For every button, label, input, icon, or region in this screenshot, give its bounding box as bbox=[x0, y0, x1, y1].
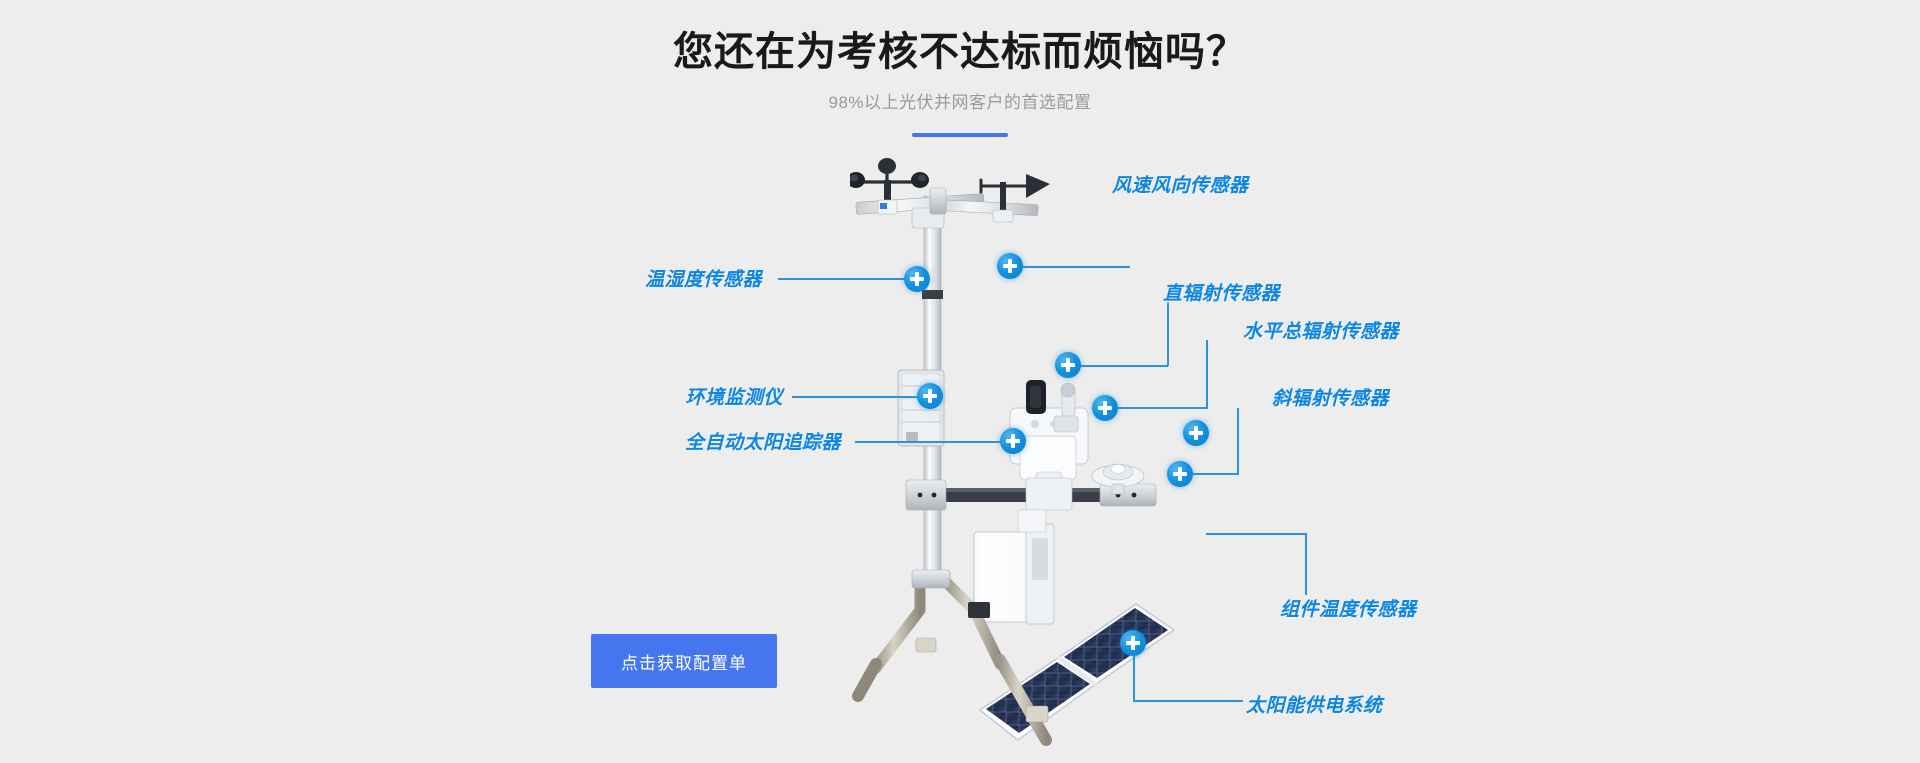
callout-label-temperature-humidity-sensor[interactable]: 温湿度传感器 bbox=[645, 265, 762, 292]
marker-module-temperature-sensor[interactable] bbox=[1183, 420, 1209, 446]
marker-solar-power-supply-system[interactable] bbox=[1120, 630, 1146, 656]
get-configuration-list-button[interactable]: 点击获取配置单 bbox=[591, 634, 777, 688]
marker-horizontal-total-radiation-sensor[interactable] bbox=[1092, 395, 1118, 421]
connector-tilted-radiation-v bbox=[1237, 408, 1239, 474]
page-subtitle: 98%以上光伏并网客户的首选配置 bbox=[0, 94, 1920, 111]
connector-environment-monitor bbox=[792, 396, 918, 398]
callout-label-environment-monitor[interactable]: 环境监测仪 bbox=[685, 383, 783, 410]
connector-direct-radiation-v bbox=[1167, 302, 1169, 366]
connector-solar-supply-h bbox=[1133, 700, 1243, 702]
connector-wind-speed-direction-h bbox=[1010, 266, 1130, 268]
callout-label-horizontal-total-radiation-sensor[interactable]: 水平总辐射传感器 bbox=[1243, 317, 1399, 344]
marker-environment-monitor[interactable] bbox=[917, 383, 943, 409]
callout-label-tilted-radiation-sensor[interactable]: 斜辐射传感器 bbox=[1272, 384, 1389, 411]
marker-auto-solar-tracker[interactable] bbox=[1000, 428, 1026, 454]
connector-tilted-radiation-h bbox=[1190, 473, 1239, 475]
connector-solar-tracker bbox=[855, 441, 1003, 443]
page-root: 您还在为考核不达标而烦恼吗？ 98%以上光伏并网客户的首选配置 bbox=[0, 0, 1920, 763]
callout-label-auto-solar-tracker[interactable]: 全自动太阳追踪器 bbox=[685, 428, 841, 455]
marker-temperature-humidity-sensor[interactable] bbox=[904, 266, 930, 292]
marker-wind-speed-direction-sensor[interactable] bbox=[997, 253, 1023, 279]
callout-label-wind-speed-direction-sensor[interactable]: 风速风向传感器 bbox=[1112, 171, 1249, 198]
page-header: 您还在为考核不达标而烦恼吗？ 98%以上光伏并网客户的首选配置 bbox=[0, 0, 1920, 137]
callout-label-solar-power-supply-system[interactable]: 太阳能供电系统 bbox=[1246, 691, 1383, 718]
environment-monitor-box bbox=[898, 370, 944, 446]
connector-horizontal-radiation-h bbox=[1116, 407, 1208, 409]
weather-station-illustration bbox=[850, 140, 1270, 763]
connector-horizontal-radiation-v bbox=[1206, 340, 1208, 408]
callout-label-module-temperature-sensor[interactable]: 组件温度传感器 bbox=[1280, 595, 1417, 622]
page-title: 您还在为考核不达标而烦恼吗？ bbox=[0, 32, 1920, 72]
connector-temp-humidity bbox=[778, 278, 906, 280]
marker-tilted-radiation-sensor[interactable] bbox=[1167, 461, 1193, 487]
marker-direct-radiation-sensor[interactable] bbox=[1055, 352, 1081, 378]
connector-module-temp-h bbox=[1206, 533, 1306, 535]
equipment-diagram: 风速风向传感器 温湿度传感器 直辐射传感器 水平总辐射传感器 环境监测仪 斜辐射… bbox=[0, 140, 1920, 763]
connector-direct-radiation-h bbox=[1078, 365, 1168, 367]
title-divider bbox=[912, 133, 1008, 137]
connector-module-temp-drop bbox=[1305, 533, 1307, 595]
callout-label-direct-radiation-sensor[interactable]: 直辐射传感器 bbox=[1163, 279, 1280, 306]
